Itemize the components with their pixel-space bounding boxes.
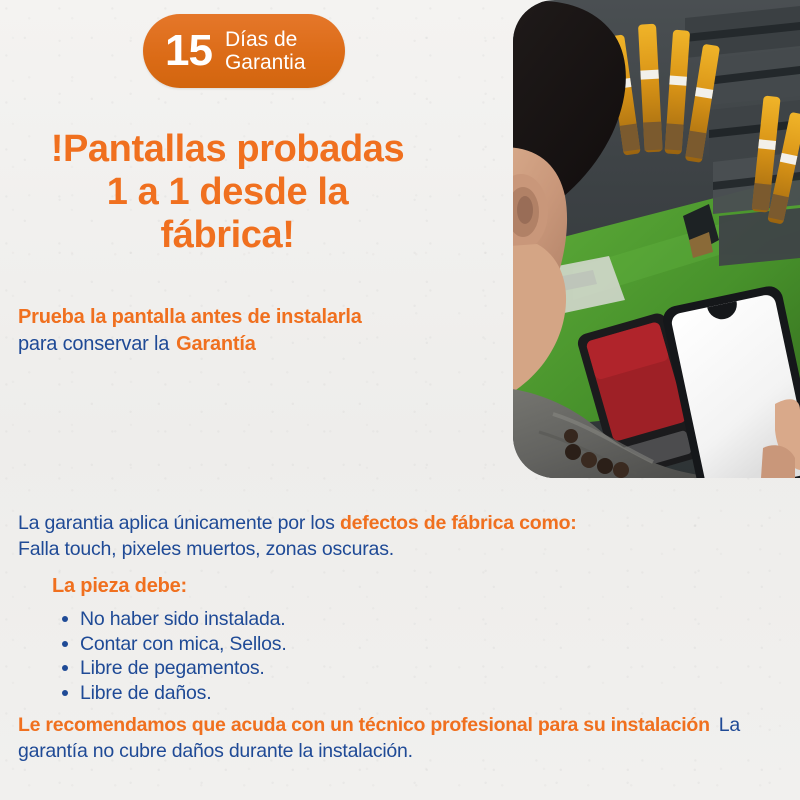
requirements-section: La pieza debe: No haber sido instalada. … [52,575,472,705]
bullet-icon [62,665,68,671]
technician-photo [513,0,800,478]
bullet-icon [62,690,68,696]
paragraph-plain-text: La garantia aplica únicamente por los [18,512,335,534]
list-item: Contar con mica, Sellos. [62,632,472,657]
footer-note: Le recomendamos que acuda con un técnico… [18,712,793,764]
warranty-badge: 15 Días de Garantia [143,14,345,88]
badge-number: 15 [165,29,212,73]
bullet-icon [62,641,68,647]
badge-line-1: Días de [225,28,306,51]
warranty-paragraph: La garantia aplica únicamente por los de… [18,510,788,562]
subheading-accent-word: Garantía [176,333,256,355]
list-item: No haber sido instalada. [62,607,472,632]
subheading: Prueba la pantalla antes de instalarla p… [18,304,458,358]
list-item: Libre de pegamentos. [62,656,472,681]
list-item: Libre de daños. [62,681,472,706]
badge-text: Días de Garantia [225,28,306,74]
list-item-label: Libre de daños. [80,682,211,704]
footer-accent-text: Le recomendamos que acuda con un técnico… [18,714,710,736]
badge-line-2: Garantia [225,51,306,74]
headline-line-2: 1 a 1 desde la [0,171,455,214]
page-title: !Pantallas probadas 1 a 1 desde la fábri… [0,128,455,257]
list-item-label: Libre de pegamentos. [80,657,265,679]
requirements-list: No haber sido instalada. Contar con mica… [52,607,472,705]
headline-line-1: !Pantallas probadas [0,128,455,171]
paragraph-accent-text: defectos de fábrica como: [340,512,577,534]
promo-poster: 15 Días de Garantia [0,0,800,800]
requirements-title: La pieza debe: [52,575,472,598]
photo-illustration [513,0,800,478]
list-item-label: Contar con mica, Sellos. [80,633,287,655]
bullet-icon [62,616,68,622]
paragraph-line-1: La garantia aplica únicamente por los de… [18,510,788,536]
paragraph-line-2: Falla touch, pixeles muertos, zonas oscu… [18,536,788,562]
subheading-line-1: Prueba la pantalla antes de instalarla [18,304,458,331]
subheading-line-2: para conservar laGarantía [18,331,458,358]
headline-line-3: fábrica! [0,214,455,257]
list-item-label: No haber sido instalada. [80,608,286,630]
subheading-plain-text: para conservar la [18,333,169,355]
